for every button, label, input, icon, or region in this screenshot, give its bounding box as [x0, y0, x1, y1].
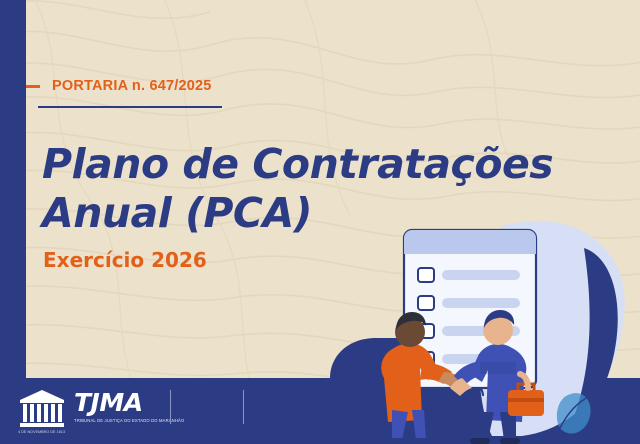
tjma-brand: TJMA TRIBUNAL DE JUSTIÇA DO ESTADO DO MA…: [74, 390, 184, 423]
tjma-seal-icon: [18, 388, 66, 432]
portaria-label: PORTARIA n. 647/2025: [26, 78, 212, 94]
title-line-1: Plano de Contratações: [42, 140, 553, 188]
footer: 4 DE NOVEMBRO DE 1813 TJMA TRIBUNAL DE J…: [0, 378, 640, 444]
title-line-2: Anual (PCA): [42, 189, 602, 238]
tjma-brand-text: TJMA: [74, 390, 184, 416]
seal-caption: 4 DE NOVEMBRO DE 1813: [18, 430, 65, 434]
poster-canvas: PORTARIA n. 647/2025 Plano de Contrataçõ…: [0, 0, 640, 444]
tjma-brand-subtitle: TRIBUNAL DE JUSTIÇA DO ESTADO DO MARANHÃ…: [74, 418, 184, 423]
footer-divider-2: [243, 390, 244, 424]
portaria-text: PORTARIA n. 647/2025: [40, 78, 212, 94]
page-title: Plano de Contratações Anual (PCA): [42, 140, 602, 238]
subtitle: Exercício 2026: [43, 248, 207, 272]
footer-divider-1: [170, 390, 171, 424]
portaria-underline: [38, 106, 222, 108]
portaria-rule: [26, 85, 40, 88]
